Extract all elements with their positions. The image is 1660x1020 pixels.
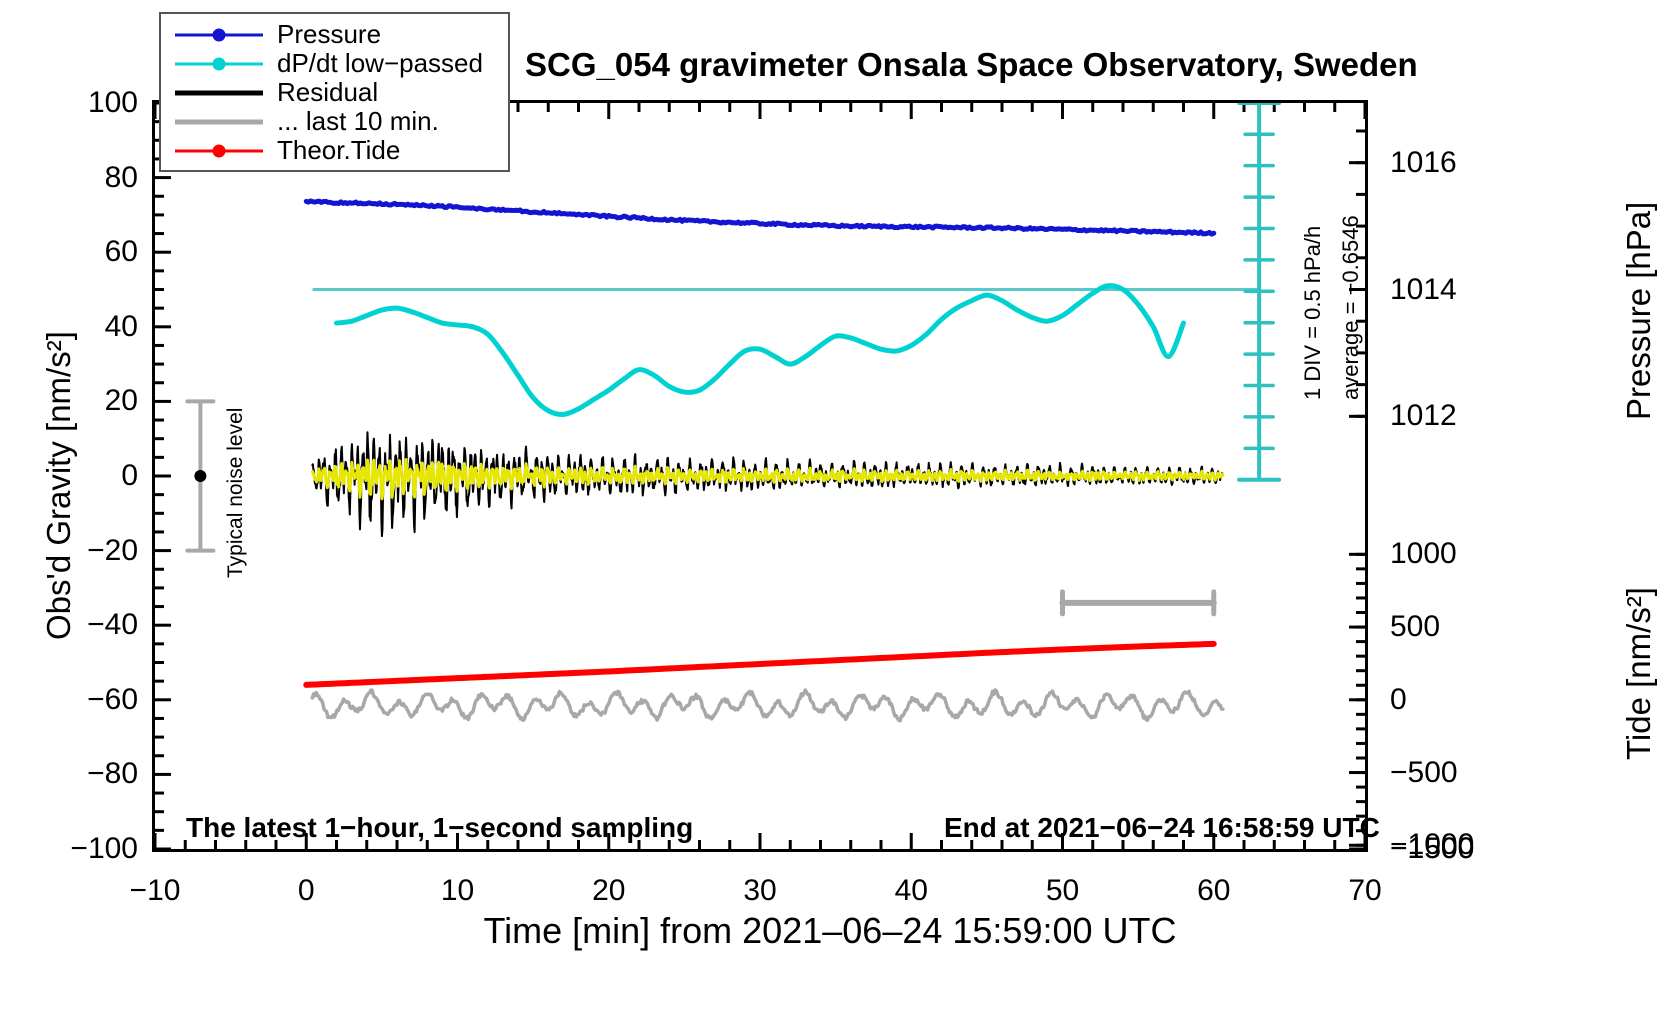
residual-series	[312, 432, 1223, 536]
legend-swatch-icon	[175, 141, 263, 161]
plot-frame	[152, 100, 1368, 852]
pressure-tick-label: 1012	[1390, 399, 1457, 433]
x-tick-label: 30	[710, 874, 810, 908]
legend-label: Theor.Tide	[263, 135, 400, 166]
y-tick-label: 60	[18, 235, 138, 269]
legend-swatch-icon	[175, 112, 263, 132]
legend-marker-icon	[213, 57, 226, 70]
x-tick-label: 0	[256, 874, 356, 908]
x-tick-label: −10	[105, 874, 205, 908]
pressure-series	[306, 201, 1214, 234]
legend-marker-icon	[213, 28, 226, 41]
sampling-note: The latest 1−hour, 1−second sampling	[186, 812, 693, 844]
legend-item[interactable]: Residual	[161, 78, 508, 107]
legend-swatch-icon	[175, 25, 263, 45]
y-axis-right-pressure-title: Pressure [hPa]	[1620, 202, 1658, 420]
legend-label: Residual	[263, 77, 378, 108]
y-tick-label: −40	[18, 608, 138, 642]
x-tick-label: 20	[559, 874, 659, 908]
y-tick-label: −60	[18, 683, 138, 717]
last-ten-minutes-series	[312, 690, 1223, 721]
legend-label: ... last 10 min.	[263, 106, 439, 137]
y-tick-label: −100	[18, 832, 138, 866]
legend-label: dP/dt low−passed	[263, 48, 483, 79]
pressure-tick-label: 1014	[1390, 273, 1457, 307]
legend-marker-icon	[213, 144, 226, 157]
y-axis-left-title: Obs'd Gravity [nm/s²]	[40, 331, 78, 640]
y-tick-label: 100	[18, 86, 138, 120]
y-tick-label: 80	[18, 161, 138, 195]
pressure-tick-label: 1016	[1390, 146, 1457, 180]
x-tick-label: 50	[1013, 874, 1113, 908]
x-tick-label: 10	[408, 874, 508, 908]
x-tick-label: 70	[1315, 874, 1415, 908]
y-tick-label: −20	[18, 534, 138, 568]
tide-tick-label: −1500	[1390, 832, 1474, 866]
y-tick-label: 0	[18, 459, 138, 493]
x-tick-label: 60	[1164, 874, 1264, 908]
y-tick-label: 20	[18, 384, 138, 418]
y-axis-right-tide-title: Tide [nm/s²]	[1620, 587, 1658, 760]
residual-smoothed-overlay	[312, 460, 1223, 499]
tide-tick-label: 500	[1390, 610, 1440, 644]
dpdt-series	[337, 286, 1184, 415]
legend-item[interactable]: Pressure	[161, 20, 508, 49]
noise-level-center-dot	[194, 470, 206, 482]
theoretical-tide-series	[306, 644, 1214, 685]
y-tick-label: 40	[18, 310, 138, 344]
plot-area	[155, 103, 1365, 849]
y-tick-label: −80	[18, 757, 138, 791]
legend-item[interactable]: Theor.Tide	[161, 136, 508, 165]
legend-label: Pressure	[263, 19, 381, 50]
tide-tick-label: −500	[1390, 756, 1458, 790]
x-tick-label: 40	[861, 874, 961, 908]
average-label: average = −0.6546	[1338, 215, 1364, 400]
legend-item[interactable]: dP/dt low−passed	[161, 49, 508, 78]
tide-tick-label: 0	[1390, 683, 1407, 717]
x-axis-title: Time [min] from 2021‒06‒24 15:59:00 UTC	[483, 910, 1176, 952]
chart-title: SCG_054 gravimeter Onsala Space Observat…	[525, 46, 1418, 84]
legend-swatch-icon	[175, 54, 263, 74]
legend-item[interactable]: ... last 10 min.	[161, 107, 508, 136]
typical-noise-level-label: Typical noise level	[224, 408, 248, 578]
legend-swatch-icon	[175, 83, 263, 103]
end-time-note: End at 2021−06−24 16:58:59 UTC	[944, 812, 1380, 844]
legend[interactable]: PressuredP/dt low−passedResidual... last…	[159, 12, 510, 172]
chart-canvas	[155, 103, 1365, 849]
div-scale-label: 1 DIV = 0.5 hPa/h	[1300, 226, 1326, 400]
tide-tick-label: 1000	[1390, 537, 1457, 571]
